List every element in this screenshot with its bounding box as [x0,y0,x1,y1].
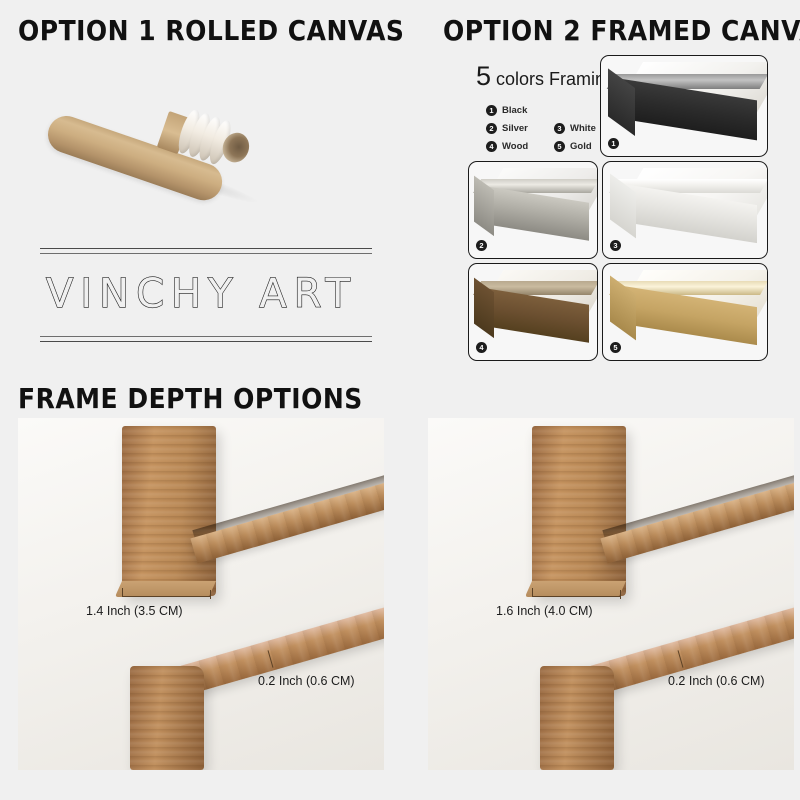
frame-corner-render [603,162,767,258]
thickness-dim-label: 0.2 Inch (0.6 CM) [668,674,765,688]
legend-label-black: Black [502,105,527,116]
legend-badge-1: 1 [486,105,497,116]
legend-label-white: White [570,123,596,134]
infographic-page: OPTION 1 ROLLED CANVAS VINCHY ART VINCHY… [0,0,800,800]
frame-swatch-black[interactable]: 1 [600,55,768,157]
frame-swatch-gold[interactable]: 5 [602,263,768,361]
framing-colors-panel: 5 colors Framing 1 Black 2 Silver 3 Whit… [468,55,800,355]
legend-badge-3: 3 [554,123,565,134]
option1-heading: OPTION 1 ROLLED CANVAS [18,14,404,46]
framing-count: 5 [476,61,491,91]
width-dim-line [122,596,210,597]
frame-swatch-wood[interactable]: 4 [468,263,598,361]
logo-rule-bottom-inner [40,336,372,337]
framing-title: 5 colors Framing [476,61,615,92]
framing-title-rest: colors Framing [491,69,615,89]
lower-corner-block [540,666,614,770]
lower-corner-block [130,666,204,770]
swatch-badge-4: 4 [476,342,487,353]
swatch-badge-5: 5 [610,342,621,353]
vertical-frame-rail [532,426,626,596]
frame-corner-render [469,162,597,258]
vertical-rail-end-face [115,581,216,597]
legend-label-gold: Gold [570,141,592,152]
frame-depth-heading: FRAME DEPTH OPTIONS [18,382,363,414]
legend-item-silver: 2 Silver [486,123,554,134]
legend-label-silver: Silver [502,123,528,134]
depth-photo-1-6-inch: 1.6 Inch (4.0 CM) 0.2 Inch (0.6 CM) [428,418,794,770]
width-dim-tick-right [620,590,621,599]
legend-label-wood: Wood [502,141,528,152]
swatch-badge-2: 2 [476,240,487,251]
logo-rule-bottom-outer [40,341,372,342]
width-dim-label: 1.4 Inch (3.5 CM) [86,604,183,618]
brand-logo: VINCHY ART VINCHY ART [40,248,372,348]
width-dim-tick-right [210,590,211,599]
width-dim-line [532,596,620,597]
logo-rule-top-outer [40,248,372,249]
frame-corner-render [603,264,767,360]
vertical-frame-rail [122,426,216,596]
frame-corner-render [601,56,767,156]
swatch-badge-1: 1 [608,138,619,149]
legend-badge-4: 4 [486,141,497,152]
thickness-dim-label: 0.2 Inch (0.6 CM) [258,674,355,688]
legend-badge-2: 2 [486,123,497,134]
logo-rule-top-inner [40,253,372,254]
rolled-canvas-tube-image [45,70,275,190]
option2-heading: OPTION 2 FRAMED CANVAS [443,14,800,46]
legend-item-wood: 4 Wood [486,141,554,152]
frame-swatch-white[interactable]: 3 [602,161,768,259]
depth-photo-1-4-inch: 1.4 Inch (3.5 CM) 0.2 Inch (0.6 CM) [18,418,384,770]
width-dim-label: 1.6 Inch (4.0 CM) [496,604,593,618]
frame-swatch-silver[interactable]: 2 [468,161,598,259]
frame-corner-render [469,264,597,360]
logo-text-outline: VINCHY ART [46,271,357,317]
legend-badge-5: 5 [554,141,565,152]
vertical-rail-end-face [525,581,626,597]
legend-item-black: 1 Black [486,105,554,116]
swatch-badge-3: 3 [610,240,621,251]
